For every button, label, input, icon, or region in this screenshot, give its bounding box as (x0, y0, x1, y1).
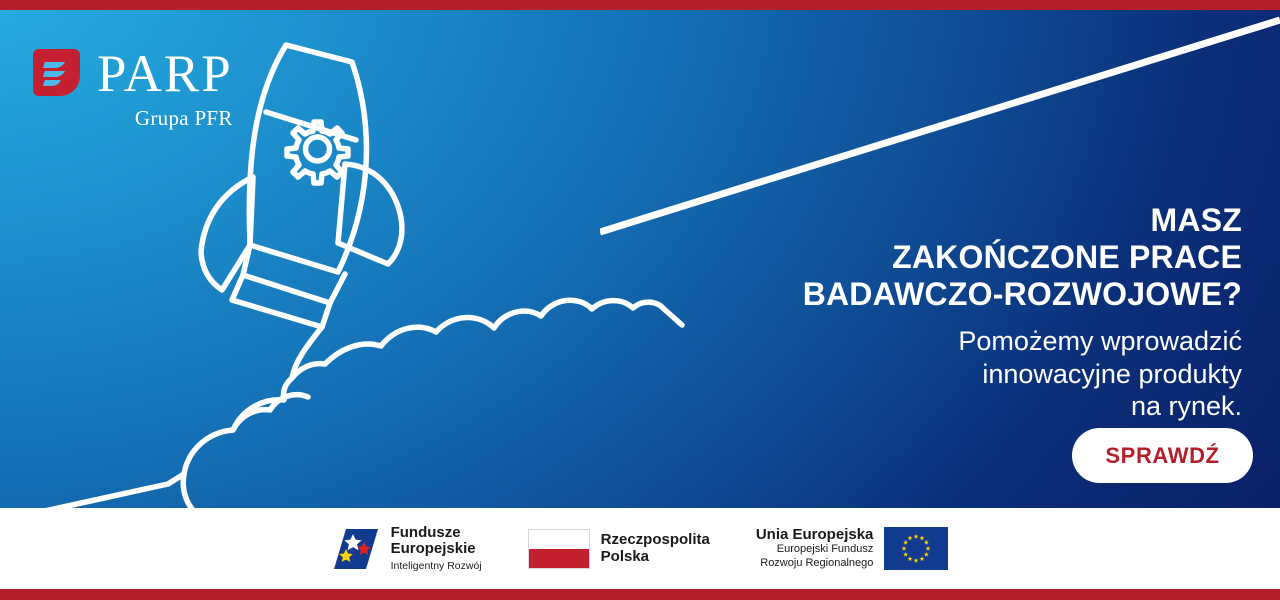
ue-line-3: Rozwoju Regionalnego (760, 557, 873, 571)
rp-line-2: Polska (601, 549, 710, 565)
parp-logo[interactable]: PARP Grupa PFR (33, 49, 233, 131)
top-red-rule (0, 0, 1280, 10)
headline: MASZ ZAKOŃCZONE PRACE BADAWCZO-ROZWOJOWE… (682, 202, 1242, 312)
fundusze-europejskie-stars-icon (332, 525, 380, 573)
fundusze-europejskie-text: Fundusze Europejskie Inteligentny Rozwój (391, 525, 482, 571)
unia-text: Unia Europejska Europejski Fundusz Rozwo… (756, 527, 874, 571)
rp-line-1: Rzeczpospolita (601, 532, 710, 548)
headline-line-1: MASZ (682, 202, 1242, 239)
fe-line-3: Inteligentny Rozwój (391, 560, 482, 572)
fe-line-2: Europejskie (391, 541, 482, 557)
funding-logos-footer: Fundusze Europejskie Inteligentny Rozwój… (0, 508, 1280, 589)
fe-line-1: Fundusze (391, 525, 482, 541)
parp-tagline: Grupa PFR (135, 106, 233, 131)
polska-text: Rzeczpospolita Polska (601, 532, 710, 564)
cloud-trail-icon (40, 300, 682, 508)
rzeczpospolita-polska-logo: Rzeczpospolita Polska (528, 529, 710, 569)
bottom-red-rule (0, 589, 1280, 600)
subheadline-line-1: Pomożemy wprowadzić (682, 325, 1242, 357)
ue-line-1: Unia Europejska (756, 527, 874, 544)
rocket-fin-right (338, 164, 402, 264)
fundusze-europejskie-logo: Fundusze Europejskie Inteligentny Rozwój (332, 525, 482, 573)
subheadline: Pomożemy wprowadzić innowacyjne produkty… (682, 325, 1242, 422)
parp-wave-mark-icon (33, 49, 80, 96)
promo-banner: PARP Grupa PFR MASZ ZAKOŃCZONE PRACE BAD… (0, 0, 1280, 600)
eu-flag-icon (884, 527, 948, 570)
subheadline-line-2: innowacyjne produkty (682, 358, 1242, 390)
parp-wordmark: PARP (97, 49, 233, 99)
rocket-nozzle (243, 245, 345, 303)
headline-line-2: ZAKOŃCZONE PRACE (682, 239, 1242, 276)
headline-line-3: BADAWCZO-ROZWOJOWE? (682, 276, 1242, 313)
poland-flag-icon (528, 529, 590, 569)
copy-block: MASZ ZAKOŃCZONE PRACE BADAWCZO-ROZWOJOWE… (682, 202, 1242, 423)
ue-line-2: Europejski Fundusz (777, 543, 874, 557)
banner-stage: PARP Grupa PFR MASZ ZAKOŃCZONE PRACE BAD… (0, 10, 1280, 508)
unia-europejska-logo: Unia Europejska Europejski Fundusz Rozwo… (756, 527, 949, 571)
gear-icon (287, 122, 348, 183)
subheadline-line-3: na rynek. (682, 390, 1242, 422)
sprawdz-cta-button[interactable]: SPRAWDŹ (1072, 428, 1253, 483)
